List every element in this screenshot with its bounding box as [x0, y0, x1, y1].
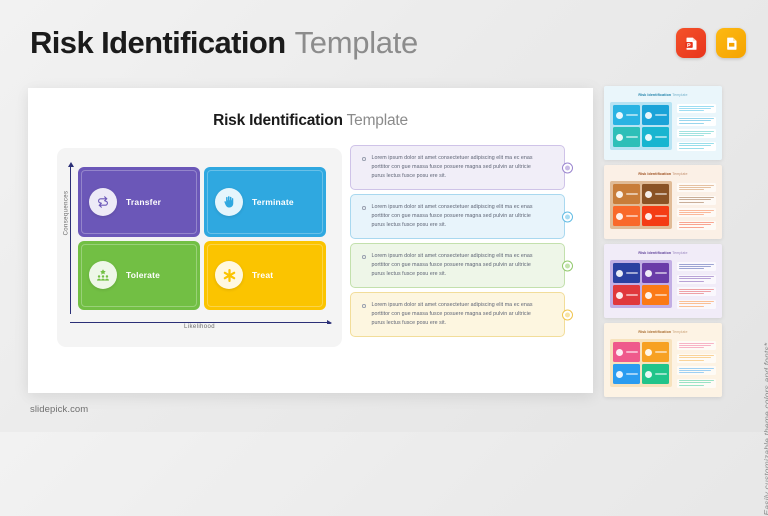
thumbnail-body	[610, 260, 716, 309]
thumbnail-quadrant-icon	[645, 349, 652, 356]
thumbnail-body	[610, 339, 716, 388]
thumbnail-text-line	[677, 354, 716, 363]
thumbnail-text-line	[677, 221, 716, 230]
thumbnail-text-lines	[677, 102, 716, 151]
thumbnail-rail: Risk Identification TemplateRisk Identif…	[604, 86, 722, 397]
thumbnail-quadrant-label-bar	[655, 193, 667, 194]
thumbnail-title-bold: Risk Identification	[638, 93, 671, 97]
slide-title-light: Template	[347, 112, 408, 129]
list-item-dot-icon	[562, 211, 573, 222]
thumbnail-quadrant-label-bar	[655, 272, 667, 273]
thumbnail-variant[interactable]: Risk Identification Template	[604, 323, 722, 397]
thumbnail-text-line	[677, 262, 716, 271]
thumbnail-quadrant	[613, 184, 640, 204]
thumbnail-text-line	[677, 300, 716, 309]
thumbnail-quadrant-label-bar	[626, 215, 638, 216]
likelihood-axis-line	[70, 322, 328, 323]
quadrant-terminate[interactable]: Terminate	[204, 167, 326, 237]
thumbnail-quadrant	[642, 263, 669, 283]
thumbnail-quadrant	[642, 364, 669, 384]
thumbnail-quadrant-label-bar	[626, 294, 638, 295]
list-item[interactable]: Lorem ipsum dolor sit amet consectetuer …	[350, 292, 565, 337]
list-item-text: Lorem ipsum dolor sit amet consectetuer …	[372, 252, 545, 279]
thumbnail-quadrant	[642, 105, 669, 125]
quadrant-grid: Transfer Terminate	[78, 167, 326, 310]
thumbnail-quadrant	[613, 206, 640, 226]
thumbnail-quadrant	[642, 206, 669, 226]
format-icon-group	[676, 28, 746, 58]
slide-title: Risk Identification Template	[28, 112, 593, 130]
bullet-marker-icon	[362, 255, 366, 259]
thumbnail-matrix	[610, 260, 672, 308]
thumbnail-quadrant-icon	[616, 191, 623, 198]
thumbnail-text-line	[677, 379, 716, 388]
thumbnail-quadrant-icon	[645, 191, 652, 198]
thumbnail-text-line	[677, 287, 716, 296]
slide-canvas[interactable]: Risk Identification Template Consequence…	[28, 88, 593, 393]
thumbnail-quadrant-icon	[645, 134, 652, 141]
page-title-light: Template	[295, 25, 418, 61]
thumbnail-title: Risk Identification Template	[610, 93, 716, 97]
thumbnail-quadrant-icon	[616, 213, 623, 220]
thumbnail-quadrant-icon	[645, 112, 652, 119]
thumbnail-quadrant-label-bar	[655, 373, 667, 374]
thumbnail-quadrant-icon	[616, 270, 623, 277]
list-item[interactable]: Lorem ipsum dolor sit amet consectetuer …	[350, 145, 565, 190]
thumbnail-text-line	[677, 117, 716, 126]
list-item[interactable]: Lorem ipsum dolor sit amet consectetuer …	[350, 194, 565, 239]
thumbnail-quadrant-icon	[645, 270, 652, 277]
thumbnail-quadrant-label-bar	[655, 215, 667, 216]
thumbnail-quadrant-label-bar	[626, 136, 638, 137]
slide-title-bold: Risk Identification	[213, 112, 343, 129]
thumbnail-quadrant-icon	[616, 349, 623, 356]
exchange-arrows-icon	[89, 188, 117, 216]
bullet-marker-icon	[362, 157, 366, 161]
page-title-bold: Risk Identification	[30, 25, 286, 61]
thumbnail-title-bold: Risk Identification	[638, 251, 671, 255]
thumbnail-title-bold: Risk Identification	[638, 172, 671, 176]
thumbnail-title: Risk Identification Template	[610, 330, 716, 334]
thumbnail-quadrant-label-bar	[626, 272, 638, 273]
thumbnail-text-line	[677, 129, 716, 138]
thumbnail-text-line	[677, 366, 716, 375]
thumbnail-title-light: Template	[672, 172, 687, 176]
risk-matrix-panel: Consequences Likelihood Transfer	[57, 148, 342, 347]
powerpoint-icon[interactable]	[676, 28, 706, 58]
stop-hand-icon	[215, 188, 243, 216]
thumbnail-quadrant-label-bar	[655, 351, 667, 352]
list-item-dot-icon	[562, 162, 573, 173]
consequences-axis-line	[70, 166, 71, 314]
list-item-text: Lorem ipsum dolor sit amet consectetuer …	[372, 203, 545, 230]
thumbnail-variant[interactable]: Risk Identification Template	[604, 244, 722, 318]
site-footer: slidepick.com	[30, 404, 88, 415]
thumbnail-text-lines	[677, 260, 716, 309]
quadrant-tolerate[interactable]: Tolerate	[78, 241, 200, 311]
thumbnail-quadrant-icon	[616, 134, 623, 141]
thumbnail-title-bold: Risk Identification	[638, 330, 671, 334]
quadrant-label-transfer: Transfer	[126, 197, 161, 207]
quadrant-transfer[interactable]: Transfer	[78, 167, 200, 237]
thumbnail-quadrant-label-bar	[626, 373, 638, 374]
thumbnail-text-line	[677, 142, 716, 151]
thumbnail-quadrant	[613, 127, 640, 147]
thumbnail-quadrant	[642, 285, 669, 305]
list-item-dot-icon	[562, 309, 573, 320]
thumbnail-quadrant-label-bar	[655, 294, 667, 295]
people-group-icon	[89, 261, 117, 289]
thumbnail-text-line	[677, 208, 716, 217]
thumbnail-quadrant-icon	[645, 213, 652, 220]
axis-label-consequences: Consequences	[63, 191, 69, 236]
asterisk-star-icon	[215, 261, 243, 289]
thumbnail-quadrant	[642, 342, 669, 362]
thumbnail-quadrant-icon	[616, 292, 623, 299]
thumbnail-quadrant-label-bar	[626, 351, 638, 352]
thumbnail-title: Risk Identification Template	[610, 251, 716, 255]
thumbnail-text-lines	[677, 181, 716, 230]
thumbnail-quadrant	[613, 105, 640, 125]
quadrant-label-treat: Treat	[252, 270, 273, 280]
quadrant-label-tolerate: Tolerate	[126, 270, 160, 280]
list-item[interactable]: Lorem ipsum dolor sit amet consectetuer …	[350, 243, 565, 288]
thumbnail-title-light: Template	[672, 93, 687, 97]
page-title: Risk Identification Template	[30, 25, 418, 61]
quadrant-label-terminate: Terminate	[252, 197, 294, 207]
thumbnail-quadrant-icon	[616, 371, 623, 378]
thumbnail-quadrant	[642, 184, 669, 204]
thumbnail-body	[610, 181, 716, 230]
thumbnail-quadrant	[642, 127, 669, 147]
thumbnail-quadrant	[613, 364, 640, 384]
thumbnail-variant[interactable]: Risk Identification Template	[604, 86, 722, 160]
thumbnail-quadrant-icon	[645, 292, 652, 299]
thumbnail-text-lines	[677, 339, 716, 388]
thumbnail-variant[interactable]: Risk Identification Template	[604, 165, 722, 239]
thumbnail-text-line	[677, 183, 716, 192]
thumbnail-text-line	[677, 196, 716, 205]
google-slides-icon[interactable]	[716, 28, 746, 58]
axis-label-likelihood-text: Likelihood	[180, 324, 219, 330]
thumbnail-quadrant	[613, 342, 640, 362]
thumbnail-quadrant	[613, 285, 640, 305]
thumbnail-body	[610, 102, 716, 151]
thumbnail-quadrant-label-bar	[626, 193, 638, 194]
thumbnail-title-light: Template	[672, 330, 687, 334]
quadrant-treat[interactable]: Treat	[204, 241, 326, 311]
list-item-text: Lorem ipsum dolor sit amet consectetuer …	[372, 154, 545, 181]
thumbnail-text-line	[677, 275, 716, 284]
customization-caption: Easily customizable theme colors and fon…	[762, 343, 768, 516]
thumbnail-quadrant-label-bar	[655, 136, 667, 137]
thumbnail-text-line	[677, 341, 716, 350]
bullet-marker-icon	[362, 304, 366, 308]
thumbnail-quadrant	[613, 263, 640, 283]
thumbnail-matrix	[610, 181, 672, 229]
risk-description-list: Lorem ipsum dolor sit amet consectetuer …	[350, 145, 565, 337]
thumbnail-quadrant-label-bar	[626, 114, 638, 115]
list-item-text: Lorem ipsum dolor sit amet consectetuer …	[372, 301, 545, 328]
bullet-marker-icon	[362, 206, 366, 210]
thumbnail-quadrant-icon	[645, 371, 652, 378]
thumbnail-title: Risk Identification Template	[610, 172, 716, 176]
thumbnail-text-line	[677, 104, 716, 113]
list-item-dot-icon	[562, 260, 573, 271]
thumbnail-matrix	[610, 339, 672, 387]
thumbnail-quadrant-icon	[616, 112, 623, 119]
thumbnail-quadrant-label-bar	[655, 114, 667, 115]
thumbnail-title-light: Template	[672, 251, 687, 255]
axis-label-likelihood: Likelihood	[57, 324, 342, 330]
thumbnail-matrix	[610, 102, 672, 150]
